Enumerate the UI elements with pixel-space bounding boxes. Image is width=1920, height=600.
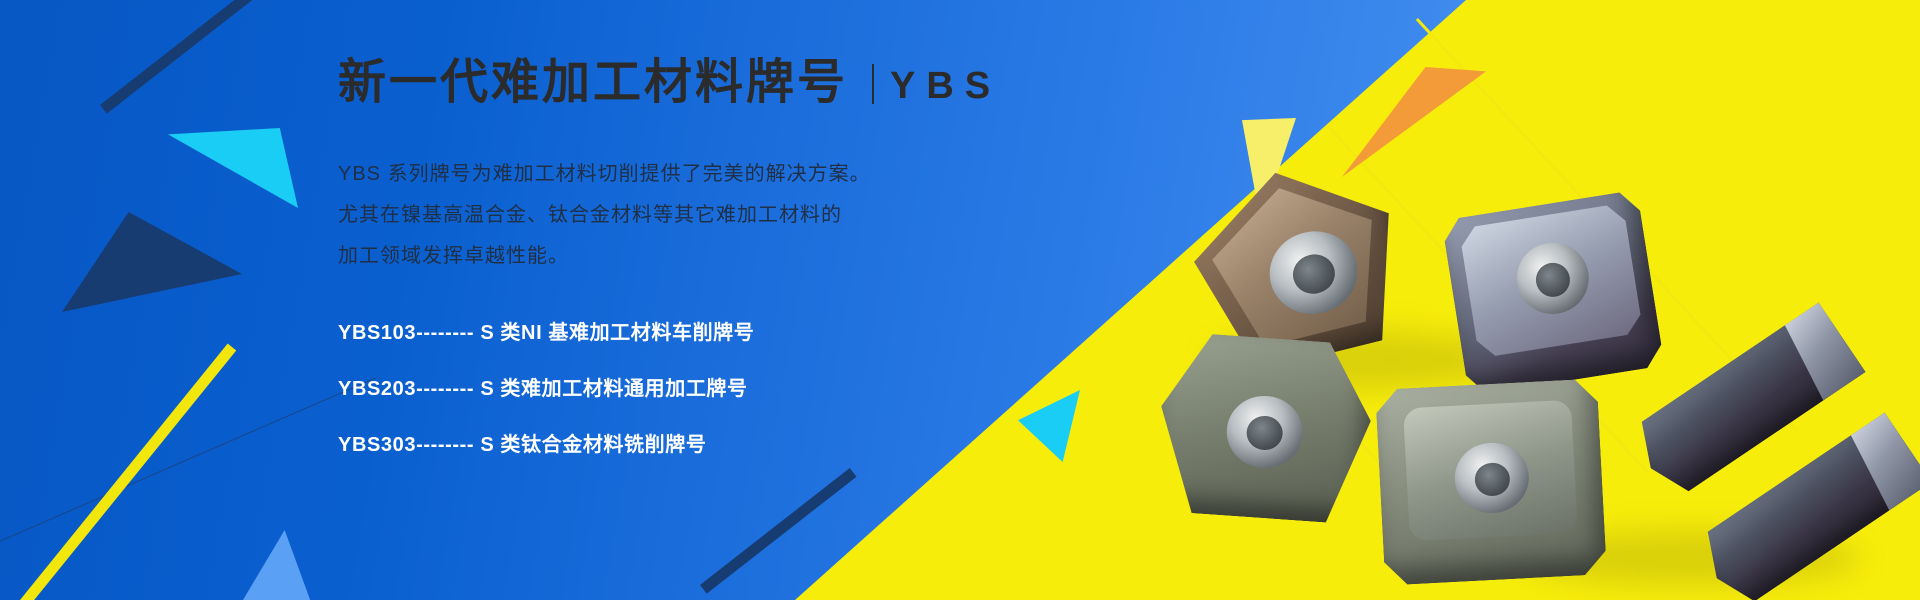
insert-cutting-tip [1776,302,1865,400]
grade-item: YBS203-------- S 类难加工材料通用加工牌号 [338,379,1118,399]
square-milling-insert [1375,378,1607,585]
navy-diagonal-bar-top [100,0,260,114]
lede-paragraph: YBS 系列牌号为难加工材料切削提供了完美的解决方案。 尤其在镍基高温合金、钛合… [338,154,1118,277]
lede-line: YBS 系列牌号为难加工材料切削提供了完美的解决方案。 [338,154,1118,195]
pentagon-milling-insert [1154,331,1376,525]
headline: 新一代难加工材料牌号 YBS [338,58,1118,108]
grade-item: YBS103-------- S 类NI 基难加工材料车削牌号 [338,323,1118,343]
square-turning-insert [1441,190,1664,397]
lede-line: 尤其在镍基高温合金、钛合金材料等其它难加工材料的 [338,195,1118,236]
banner-copy: 新一代难加工材料牌号 YBS YBS 系列牌号为难加工材料切削提供了完美的解决方… [338,58,1118,491]
cyan-triangle-upper-left [168,128,298,208]
soft-blue-triangle-bottom-left [240,530,312,600]
headline-brand: YBS [890,65,1001,108]
hero-banner: 新一代难加工材料牌号 YBS YBS 系列牌号为难加工材料切削提供了完美的解决方… [0,0,1920,600]
insert-cutting-tip [1842,412,1920,510]
headline-chinese: 新一代难加工材料牌号 [338,59,848,107]
navy-triangle-left [62,212,242,312]
yellow-diagonal-bar [20,344,236,600]
grade-list: YBS103-------- S 类NI 基难加工材料车削牌号 YBS203--… [338,323,1118,455]
headline-divider [872,64,874,104]
cutting-insert-photo-group [1190,170,1920,600]
grade-item: YBS303-------- S 类钛合金材料铣削牌号 [338,435,1118,455]
lede-line: 加工领域发挥卓越性能。 [338,236,1118,277]
